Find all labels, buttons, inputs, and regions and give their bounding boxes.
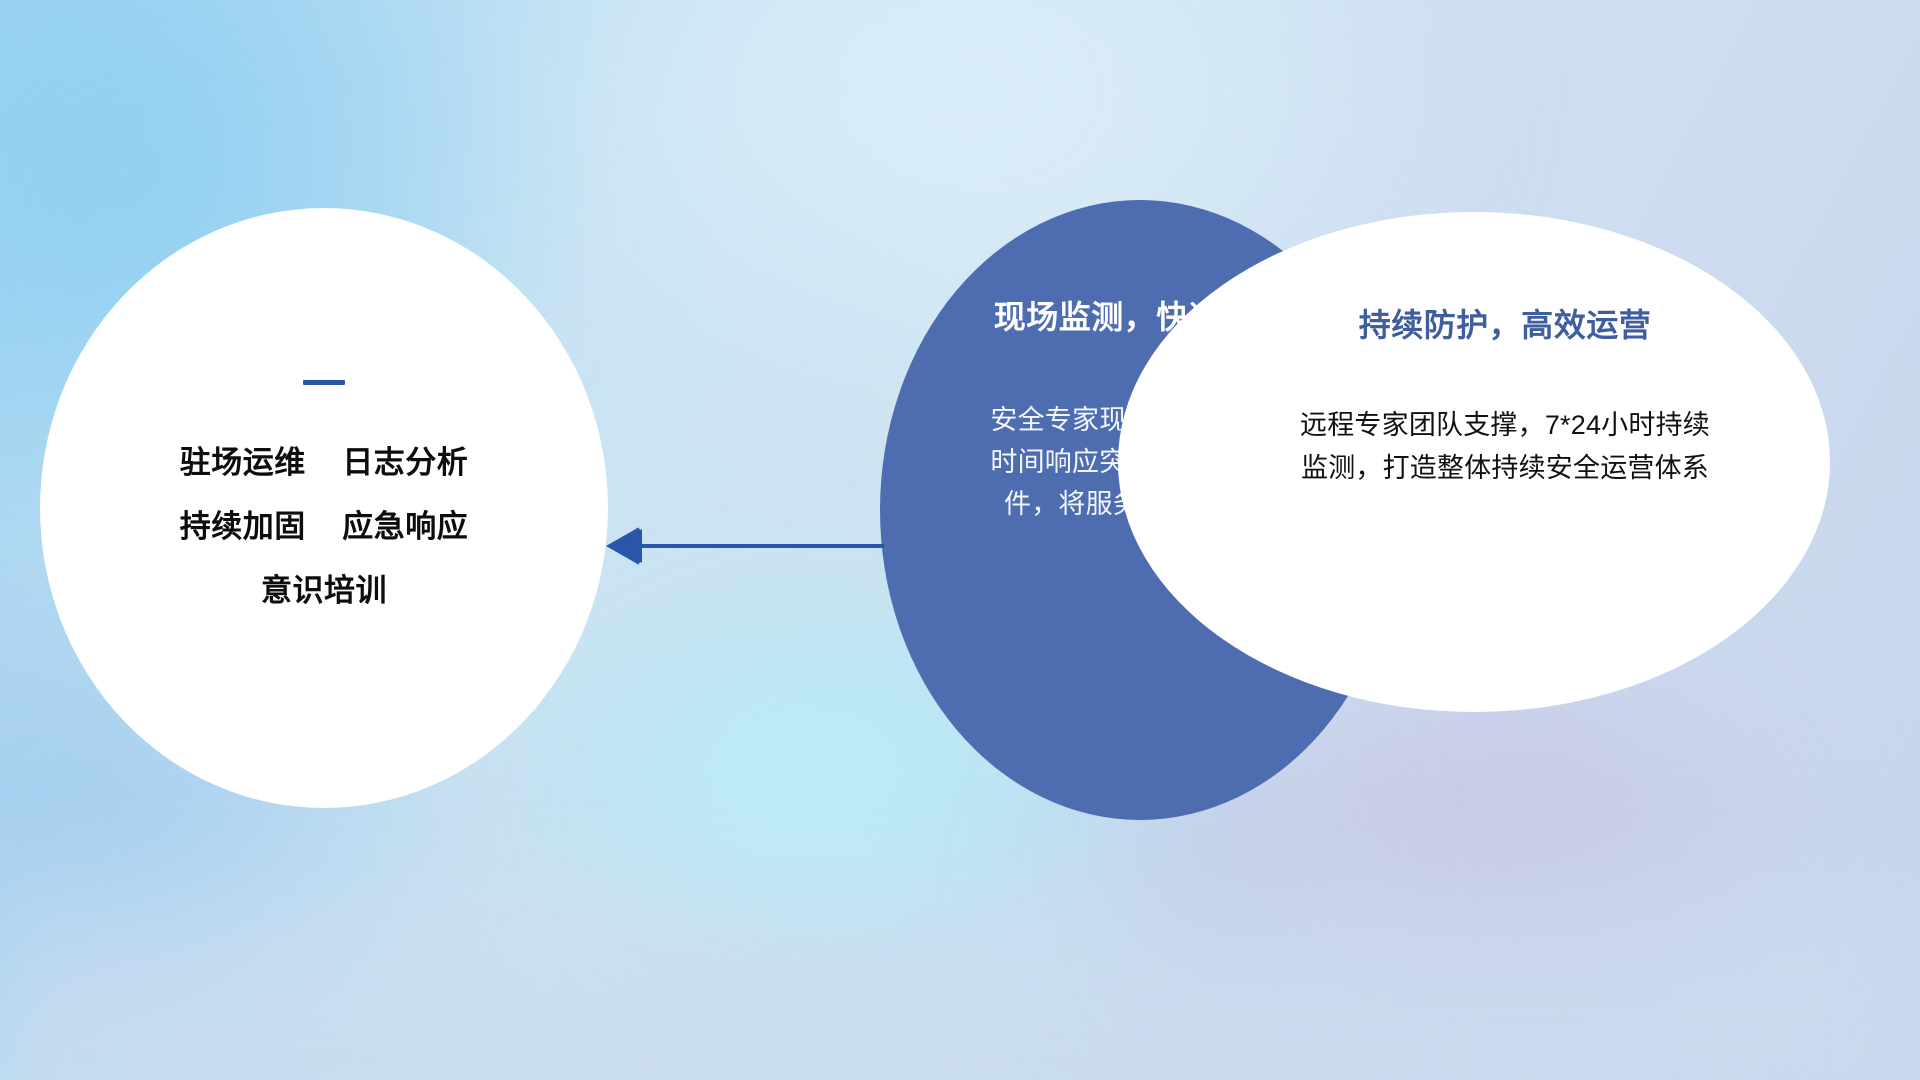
card-continuous-protection-body: 远程专家团队支撑，7*24小时持续监测，打造整体持续安全运营体系 — [1290, 404, 1720, 489]
card-onsite-capabilities-lines: 驻场运维 日志分析 持续加固 应急响应 意识培训 — [180, 447, 468, 606]
capability-row: 持续加固 应急响应 — [180, 511, 468, 542]
capability-row: 驻场运维 日志分析 — [180, 447, 468, 478]
connector-arrow-icon — [596, 516, 886, 576]
capability-row: 意识培训 — [180, 575, 468, 606]
card-continuous-protection-title: 持续防护，高效运营 — [1359, 300, 1652, 346]
card-onsite-capabilities: 驻场运维 日志分析 持续加固 应急响应 意识培训 — [40, 208, 608, 808]
card-onsite-capabilities-divider — [303, 380, 345, 385]
diagram-stage: 现场监测，快速响应 安全专家现场保障，最短时间响应突发网络安全事件，将服务效率最… — [0, 0, 1920, 1080]
card-continuous-protection: 持续防护，高效运营 远程专家团队支撑，7*24小时持续监测，打造整体持续安全运营… — [1118, 212, 1830, 712]
